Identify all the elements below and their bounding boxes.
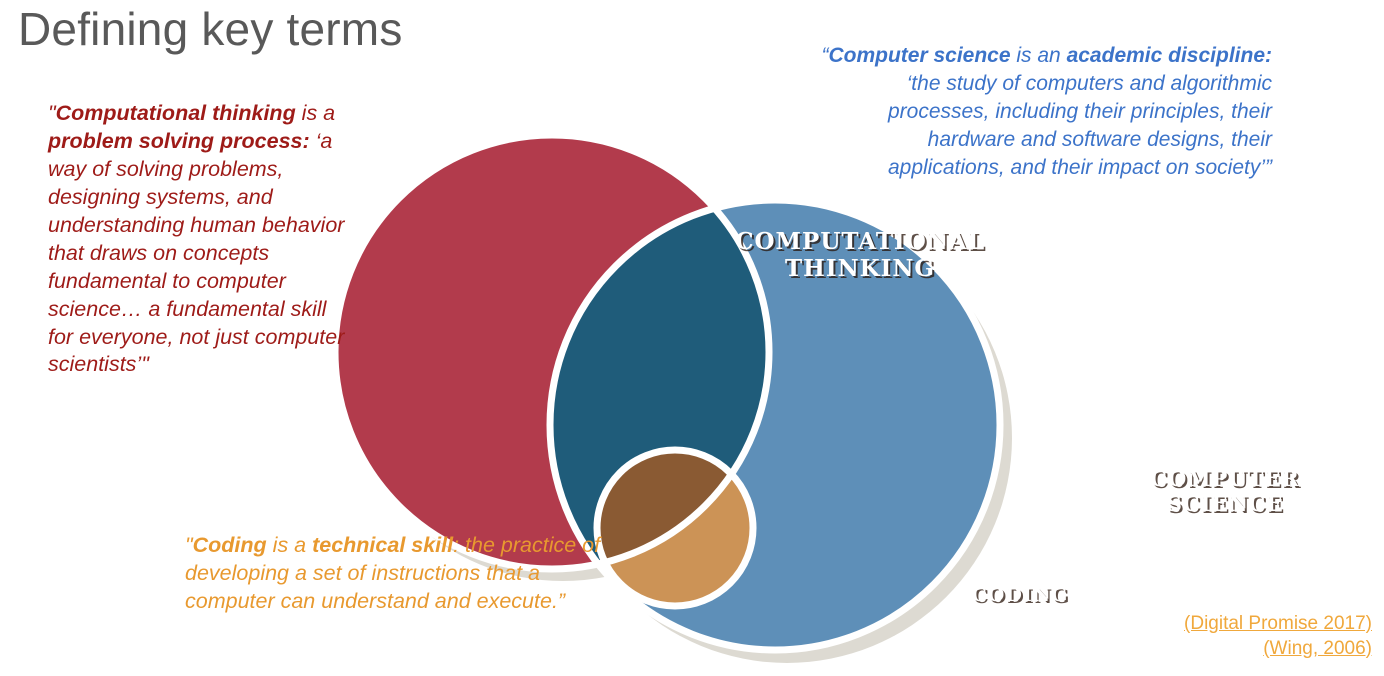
quote-cd-category: technical skill	[312, 533, 453, 557]
citations: (Digital Promise 2017) (Wing, 2006)	[1042, 612, 1372, 661]
page-title: Defining key terms	[18, 2, 403, 56]
quote-cd-mid: is a	[267, 533, 312, 557]
quote-ct-mid: is a	[296, 101, 335, 125]
venn-label-computer-science: COMPUTER SCIENCE	[1110, 467, 1340, 517]
quote-cs-body: ‘the study of computers and algorithmic …	[888, 72, 1272, 179]
quote-cs-category: academic discipline:	[1067, 44, 1272, 67]
quote-ct-open-quote: "	[48, 101, 56, 125]
quote-cs-term: Computer science	[828, 44, 1010, 67]
citation-link-digital-promise[interactable]: (Digital Promise 2017)	[1042, 612, 1372, 637]
venn-label-cs-line2: SCIENCE	[1167, 491, 1284, 516]
venn-label-cs-line1: COMPUTER	[1150, 466, 1299, 491]
quote-cs-mid: is an	[1011, 44, 1067, 67]
citation-link-wing[interactable]: (Wing, 2006)	[1042, 637, 1372, 662]
quote-computer-science: “Computer science is an academic discipl…	[812, 42, 1272, 182]
quote-ct-body: ‘a way of solving problems, designing sy…	[48, 129, 344, 377]
quote-cd-term: Coding	[193, 533, 267, 557]
quote-ct-term: Computational thinking	[56, 101, 296, 125]
quote-coding: "Coding is a technical skill: the practi…	[185, 532, 605, 616]
quote-computational-thinking: "Computational thinking is a problem sol…	[48, 100, 348, 379]
quote-cd-open-quote: "	[185, 533, 193, 557]
quote-ct-category: problem solving process:	[48, 129, 310, 153]
